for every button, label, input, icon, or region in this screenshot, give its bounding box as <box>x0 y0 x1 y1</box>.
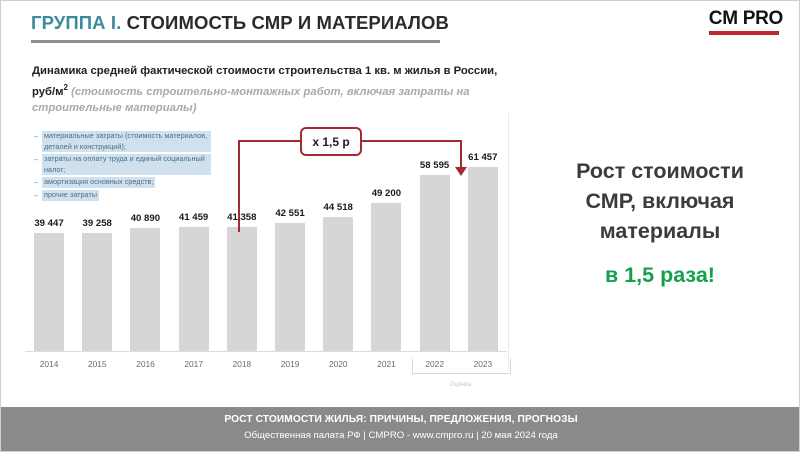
estimate-bracket <box>412 359 511 374</box>
summary-line-2: СМР, включая <box>531 186 789 216</box>
bar <box>468 167 498 351</box>
bar-column: 39 447 <box>25 111 73 351</box>
chart-baseline <box>25 351 507 352</box>
x-axis-tick: 2015 <box>73 359 121 369</box>
bar <box>82 233 112 351</box>
x-axis-tick: 2018 <box>218 359 266 369</box>
callout-stem-left <box>238 140 240 232</box>
footer-meta: Общественная палата РФ | CMPRO - www.cmp… <box>1 430 800 441</box>
brand-logo-text: CM PRO <box>709 9 783 29</box>
bar <box>130 228 160 351</box>
arrow-down-icon <box>455 167 467 176</box>
x-axis-tick: 2014 <box>25 359 73 369</box>
bar-column: 41 459 <box>170 111 218 351</box>
bar-value-label: 61 457 <box>454 152 512 163</box>
callout-line-left <box>238 140 302 142</box>
title-underline <box>31 40 440 43</box>
bar <box>179 227 209 351</box>
multiplier-callout: x 1,5 p <box>300 127 362 156</box>
slide-header: ГРУППА I. СТОИМОСТЬ СМР И МАТЕРИАЛОВ CM … <box>1 1 800 53</box>
bar <box>227 227 257 351</box>
bar <box>371 203 401 351</box>
slide-footer: РОСТ СТОИМОСТИ ЖИЛЬЯ: ПРИЧИНЫ, ПРЕДЛОЖЕН… <box>1 407 800 451</box>
brand-logo: CM PRO <box>709 9 783 35</box>
bar-column: 58 595 <box>411 111 459 351</box>
brand-logo-underline <box>709 31 779 35</box>
x-axis-tick: 2019 <box>266 359 314 369</box>
x-axis-tick: 2017 <box>170 359 218 369</box>
x-axis-tick: 2016 <box>121 359 169 369</box>
x-axis-tick: 2021 <box>362 359 410 369</box>
estimate-note: Оценка <box>412 381 509 388</box>
bar <box>275 223 305 351</box>
slide: ГРУППА I. СТОИМОСТЬ СМР И МАТЕРИАЛОВ CM … <box>0 0 800 452</box>
bar-column: 40 890 <box>121 111 169 351</box>
callout-stem-right <box>460 140 462 170</box>
bar-value-label: 49 200 <box>357 188 415 199</box>
bar <box>34 233 64 351</box>
bar <box>420 175 450 351</box>
bar-chart: 39 44739 25840 89041 45941 35842 55144 5… <box>25 111 507 373</box>
chart-subtitle: Динамика средней фактической стоимости с… <box>32 63 502 116</box>
panel-divider <box>508 113 509 371</box>
bar-column: 41 358 <box>218 111 266 351</box>
summary-line-1: Рост стоимости <box>531 156 789 186</box>
bar <box>323 217 353 351</box>
bar-value-label: 44 518 <box>309 202 367 213</box>
callout-line-right <box>356 140 462 142</box>
chart-plot-area: 39 44739 25840 89041 45941 35842 55144 5… <box>25 111 507 351</box>
summary-panel: Рост стоимости СМР, включая материалы в … <box>531 156 789 290</box>
summary-line-3: материалы <box>531 216 789 246</box>
page-title: ГРУППА I. СТОИМОСТЬ СМР И МАТЕРИАЛОВ <box>31 12 449 34</box>
footer-title: РОСТ СТОИМОСТИ ЖИЛЬЯ: ПРИЧИНЫ, ПРЕДЛОЖЕН… <box>1 414 800 425</box>
bar-column: 61 457 <box>459 111 507 351</box>
bar-column: 39 258 <box>73 111 121 351</box>
chart-subtitle-italic: (стоимость строительно-монтажных работ, … <box>32 85 470 114</box>
bar-column: 49 200 <box>362 111 410 351</box>
page-title-group: ГРУППА I. <box>31 12 121 33</box>
summary-accent: в 1,5 раза! <box>531 260 789 290</box>
x-axis-tick: 2020 <box>314 359 362 369</box>
page-title-rest: СТОИМОСТЬ СМР И МАТЕРИАЛОВ <box>121 12 449 33</box>
